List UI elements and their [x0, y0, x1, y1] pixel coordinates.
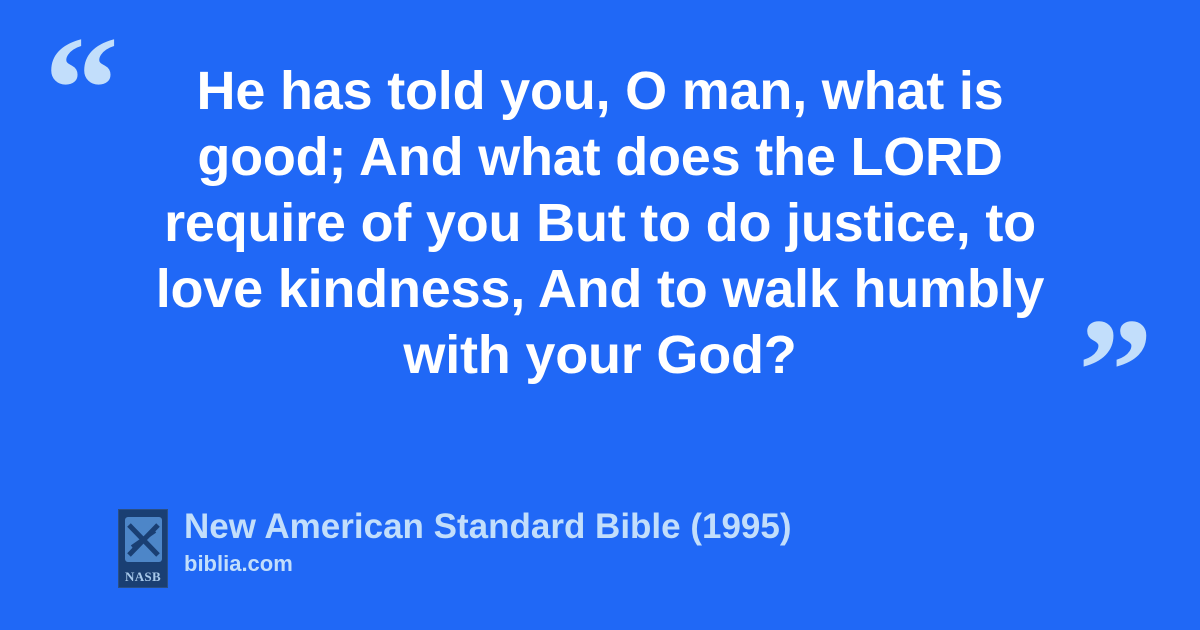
quote-line: good; And what does the LORD: [120, 124, 1080, 190]
quote-line: love kindness, And to walk humbly: [120, 256, 1080, 322]
source-site-label[interactable]: biblia.com: [184, 549, 792, 579]
quote-text: He has told you, O man, what is good; An…: [120, 58, 1080, 388]
nasb-logo-icon: NASB: [118, 509, 168, 588]
bible-verse-quote-card: “ He has told you, O man, what is good; …: [0, 0, 1200, 630]
bible-version-title: New American Standard Bible (1995): [184, 505, 792, 549]
quote-line: with your God?: [120, 322, 1080, 388]
quote-line: require of you But to do justice, to: [120, 190, 1080, 256]
nasb-logo-mark-icon: [125, 517, 162, 562]
attribution-text: New American Standard Bible (1995) bibli…: [184, 505, 792, 579]
attribution: NASB New American Standard Bible (1995) …: [118, 505, 792, 588]
quote-line: He has told you, O man, what is: [120, 58, 1080, 124]
nasb-logo-label: NASB: [119, 570, 167, 583]
close-quote-icon: ”: [1078, 296, 1153, 446]
open-quote-icon: “: [44, 14, 119, 164]
